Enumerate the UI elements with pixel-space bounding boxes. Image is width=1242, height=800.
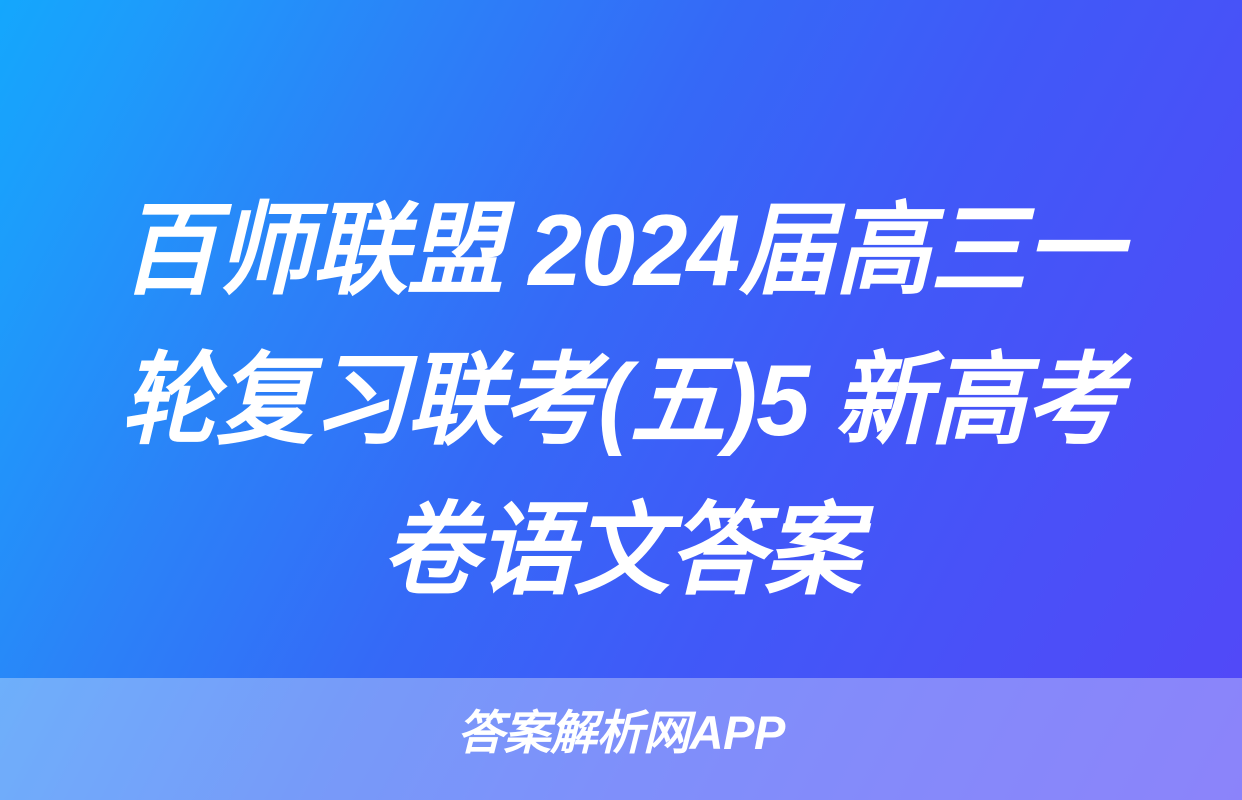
watermark-brand-label: 答案解析网APP xyxy=(0,702,1242,764)
title-line-1: 百师联盟 2024届高三一 xyxy=(87,176,1155,326)
answer-card: 百师联盟 2024届高三一 轮复习联考(五)5 新高考 卷语文答案 答案解析网A… xyxy=(0,0,1242,800)
page-title: 百师联盟 2024届高三一 轮复习联考(五)5 新高考 卷语文答案 xyxy=(0,176,1242,626)
title-line-2: 轮复习联考(五)5 新高考 xyxy=(87,326,1155,476)
title-line-3: 卷语文答案 xyxy=(87,476,1155,626)
